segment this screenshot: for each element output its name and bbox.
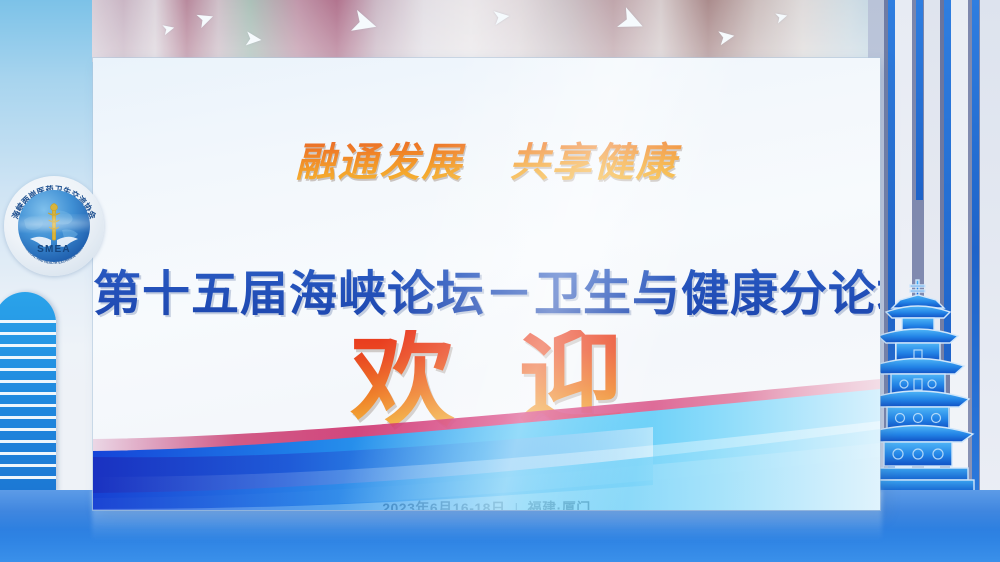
globe-continents: [24, 210, 78, 238]
calligraphy-slogan: 融通发展共享健康: [93, 130, 880, 188]
slat-accent-line: [888, 0, 895, 300]
seagull-silhouette: ➤: [160, 21, 177, 40]
smea-logo: 海峡两岸医药卫生交流协会 STRAIT MEDICAL AND HEALTH E…: [4, 176, 104, 276]
slat-accent-line: [972, 0, 979, 250]
seagull-silhouette: ➤: [491, 5, 512, 29]
logo-acronym: SMEA: [4, 244, 104, 255]
striped-arch-building: [0, 292, 56, 492]
backdrop-panel: 融通发展共享健康 第十五届海峡论坛－卫生与健康分论坛 欢迎 2023年6月16-…: [93, 58, 880, 510]
seagull-silhouette: ➤: [193, 6, 218, 33]
seagull-silhouette: ➤: [611, 0, 651, 42]
slogan-part-1: 融通发展: [296, 140, 464, 185]
city-mural-band: ➤ ➤ ➤ ➤ ➤ ➤ ➤ ➤: [92, 0, 882, 62]
seagull-silhouette: ➤: [773, 8, 790, 27]
wave-ribbon-graphic: [93, 365, 880, 510]
seagull-silhouette: ➤: [715, 25, 737, 50]
slat-accent-line: [916, 0, 923, 200]
stage-photo: ➤ ➤ ➤ ➤ ➤ ➤ ➤ ➤: [0, 0, 1000, 562]
seagull-silhouette: ➤: [346, 3, 383, 44]
seagull-silhouette: ➤: [243, 27, 264, 51]
rod-of-asclepius-icon: [48, 204, 60, 241]
slogan-part-2: 共享健康: [510, 140, 678, 185]
page-title: 第十五届海峡论坛－卫生与健康分论坛: [93, 254, 880, 324]
